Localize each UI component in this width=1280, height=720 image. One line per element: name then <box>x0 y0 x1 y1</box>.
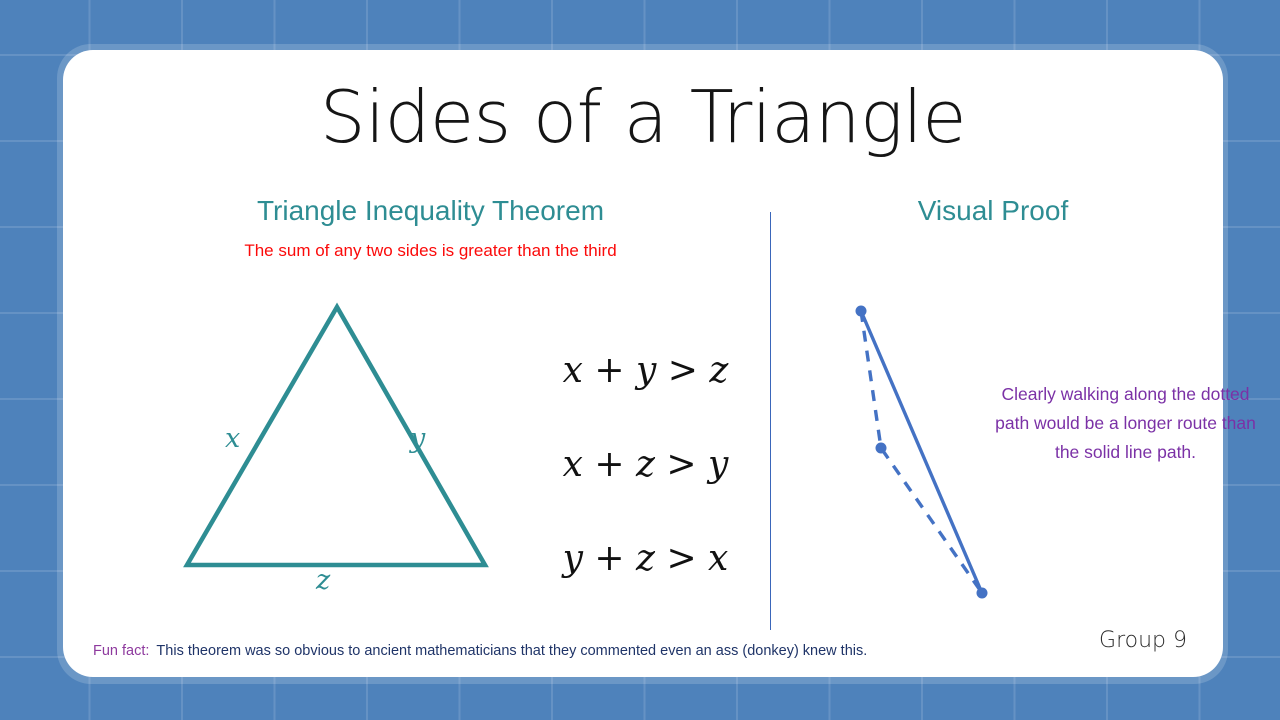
column-divider <box>770 212 771 630</box>
slide-card: Sides of a Triangle Triangle Inequality … <box>63 50 1223 677</box>
equation-3: y + z > x <box>523 538 768 579</box>
right-column-heading: Visual Proof <box>783 195 1203 227</box>
right-column: Visual Proof Clearly walking along the d… <box>783 195 1203 625</box>
fun-fact-note: Fun fact:This theorem was so obvious to … <box>93 643 867 659</box>
left-column-heading: Triangle Inequality Theorem <box>93 195 768 227</box>
triangle-diagram: x y z <box>168 290 528 620</box>
point-top-vertex <box>856 306 867 317</box>
triangle-side-label-x: x <box>225 423 240 454</box>
page-title: Sides of a Triangle <box>63 75 1223 159</box>
equation-2: x + z > y <box>523 444 768 485</box>
left-column-subtitle: The sum of any two sides is greater than… <box>93 241 768 261</box>
triangle-side-label-y: y <box>410 423 425 454</box>
triangle-svg <box>168 290 528 620</box>
point-bottom-vertex <box>977 588 988 599</box>
visual-proof-caption: Clearly walking along the dotted path wo… <box>993 380 1258 467</box>
inequality-equations: x + y > z x + z > y y + z > x <box>523 350 768 579</box>
fun-fact-text: This theorem was so obvious to ancient m… <box>156 643 867 659</box>
triangle-side-label-z: z <box>316 565 330 596</box>
equation-1: x + y > z <box>523 350 768 391</box>
point-middle-vertex <box>876 443 887 454</box>
fun-fact-label: Fun fact: <box>93 643 149 659</box>
left-column: Triangle Inequality Theorem The sum of a… <box>93 195 768 625</box>
group-label: Group 9 <box>1099 628 1187 653</box>
